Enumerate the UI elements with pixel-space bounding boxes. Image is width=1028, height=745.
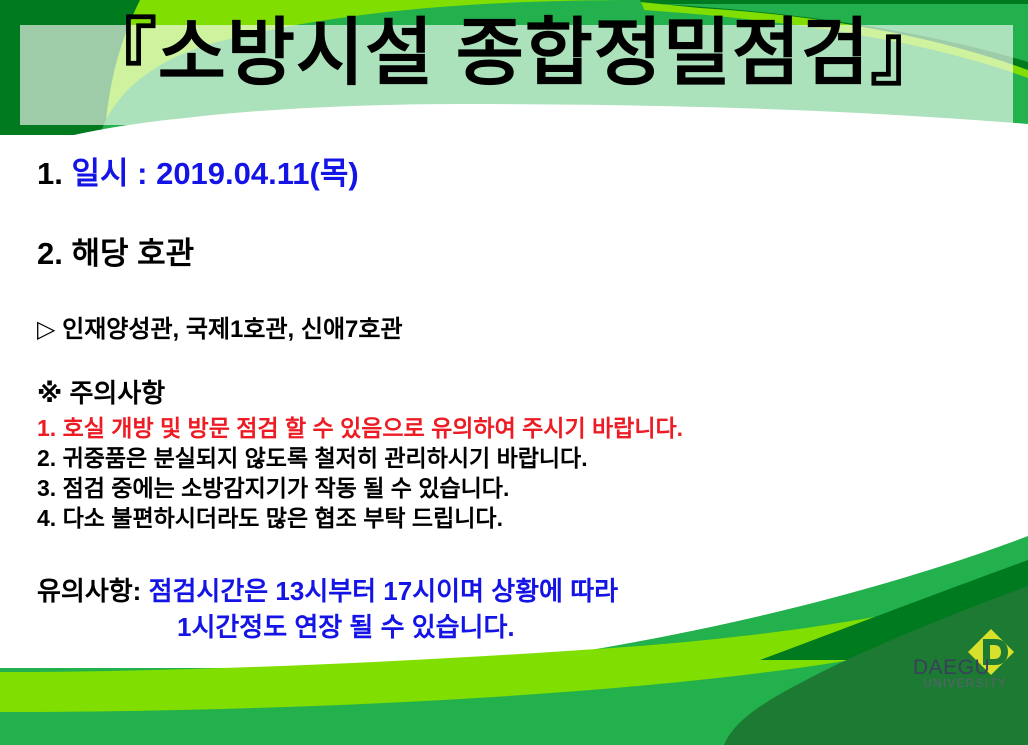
footer-notice-value-1: 점검시간은 13시부터 17시이며 상황에 따라 <box>149 576 618 606</box>
daegu-university-logo: DAEGU UNIVERSITY <box>913 628 1023 698</box>
page-title: 『소방시설 종합정밀점검』 <box>0 16 1028 90</box>
building-list-text: 인재양성관, 국제1호관, 신애7호관 <box>62 316 402 343</box>
bottom-mid-green-base <box>0 668 1028 745</box>
footer-notice-label: 유의사항: <box>37 576 141 606</box>
logo-wordmark: DAEGU <box>913 658 1013 678</box>
item-1-schedule: 1. 일시 : 2019.04.11(목) <box>37 155 997 193</box>
footer-notice-value-2: 1시간정도 연장 될 수 있습니다. <box>37 609 997 645</box>
note-item-2: 2. 귀중품은 분실되지 않도록 철저히 관리하시기 바랍니다. <box>37 443 997 473</box>
triangle-right-icon: ▷ <box>37 316 55 343</box>
footer-notice: 유의사항: 점검시간은 13시부터 17시이며 상황에 따라 1시간정도 연장 … <box>37 573 997 645</box>
item-2-buildings-heading: 2. 해당 호관 <box>37 235 997 273</box>
slide-body: 1. 일시 : 2019.04.11(목) 2. 해당 호관 ▷ 인재양성관, … <box>37 155 997 645</box>
item-1-number: 1. <box>37 156 63 191</box>
footer-notice-line-1: 유의사항: 점검시간은 13시부터 17시이며 상황에 따라 <box>37 573 997 609</box>
logo-subtitle: UNIVERSITY <box>923 677 1023 689</box>
building-list: ▷ 인재양성관, 국제1호관, 신애7호관 <box>37 315 997 345</box>
presentation-slide: 『소방시설 종합정밀점검』 1. 일시 : 2019.04.11(목) 2. 해… <box>0 0 1028 745</box>
note-item-3: 3. 점검 중에는 소방감지기가 작동 될 수 있습니다. <box>37 473 997 503</box>
item-1-value: 일시 : 2019.04.11(목) <box>71 156 358 191</box>
caution-heading: ※ 주의사항 <box>37 377 997 409</box>
note-item-4: 4. 다소 불편하시더라도 많은 협조 부탁 드립니다. <box>37 503 997 533</box>
note-item-1: 1. 호실 개방 및 방문 점검 할 수 있음으로 유의하여 주시기 바랍니다. <box>37 413 997 443</box>
